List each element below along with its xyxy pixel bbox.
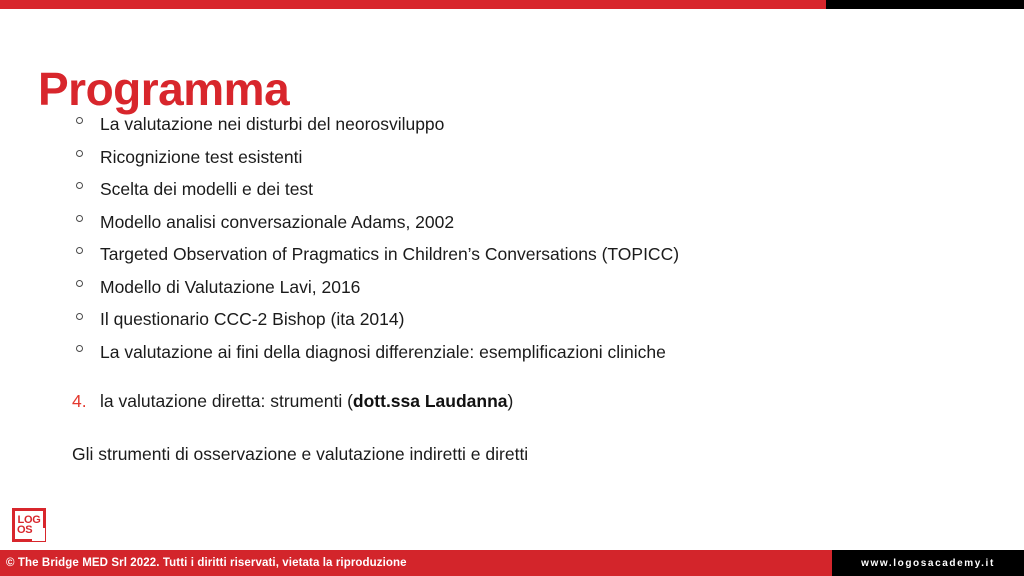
- numbered-list-item-text-after: ): [508, 391, 514, 411]
- slide-content: La valutazione nei disturbi del neorosvi…: [0, 112, 1024, 467]
- list-item-label: Modello analisi conversazionale Adams, 2…: [100, 212, 454, 232]
- list-item-label: La valutazione nei disturbi del neorosvi…: [100, 114, 444, 134]
- hollow-circle-bullet-icon: [76, 117, 83, 124]
- list-item: Scelta dei modelli e dei test: [0, 177, 1024, 203]
- hollow-circle-bullet-icon: [76, 345, 83, 352]
- numbered-list-item-text-before: la valutazione diretta: strumenti (: [100, 391, 353, 411]
- program-bullet-list: La valutazione nei disturbi del neorosvi…: [0, 112, 1024, 365]
- hollow-circle-bullet-icon: [76, 280, 83, 287]
- numbered-list-item: 4. la valutazione diretta: strumenti (do…: [0, 389, 1024, 415]
- list-item: La valutazione ai fini della diagnosi di…: [0, 340, 1024, 366]
- list-item-label: Il questionario CCC-2 Bishop (ita 2014): [100, 309, 404, 329]
- list-item-label: Ricognizione test esistenti: [100, 147, 302, 167]
- hollow-circle-bullet-icon: [76, 182, 83, 189]
- list-item: Targeted Observation of Pragmatics in Ch…: [0, 242, 1024, 268]
- list-item: Modello analisi conversazionale Adams, 2…: [0, 210, 1024, 236]
- page-title: Programma: [38, 65, 289, 113]
- top-accent-bar: [0, 0, 1024, 9]
- footer-right-black-segment: www.logosacademy.it: [832, 550, 1024, 576]
- footer-left-red-segment: © The Bridge MED Srl 2022. Tutti i dirit…: [0, 550, 832, 576]
- hollow-circle-bullet-icon: [76, 150, 83, 157]
- footer-copyright-text: © The Bridge MED Srl 2022. Tutti i dirit…: [0, 557, 407, 569]
- list-item-label: Modello di Valutazione Lavi, 2016: [100, 277, 360, 297]
- list-item: Modello di Valutazione Lavi, 2016: [0, 275, 1024, 301]
- footer-website-text: www.logosacademy.it: [861, 558, 995, 569]
- logo-line-2: OS: [17, 525, 32, 535]
- logo-wordmark: LOG OS: [12, 508, 46, 542]
- footer-bar: © The Bridge MED Srl 2022. Tutti i dirit…: [0, 550, 1024, 576]
- top-accent-bar-black-segment: [826, 0, 1024, 9]
- hollow-circle-bullet-icon: [76, 313, 83, 320]
- top-accent-bar-red-segment: [0, 0, 826, 9]
- list-item-label: La valutazione ai fini della diagnosi di…: [100, 342, 666, 362]
- list-item-label: Scelta dei modelli e dei test: [100, 179, 313, 199]
- logos-logo: LOG OS: [12, 508, 46, 542]
- list-item-label: Targeted Observation of Pragmatics in Ch…: [100, 244, 679, 264]
- numbered-list-item-number: 4.: [72, 389, 87, 415]
- closing-paragraph: Gli strumenti di osservazione e valutazi…: [0, 442, 1024, 468]
- numbered-list-item-emphasis: dott.ssa Laudanna: [353, 391, 508, 411]
- list-item: Ricognizione test esistenti: [0, 145, 1024, 171]
- hollow-circle-bullet-icon: [76, 215, 83, 222]
- hollow-circle-bullet-icon: [76, 247, 83, 254]
- list-item: La valutazione nei disturbi del neorosvi…: [0, 112, 1024, 138]
- list-item: Il questionario CCC-2 Bishop (ita 2014): [0, 307, 1024, 333]
